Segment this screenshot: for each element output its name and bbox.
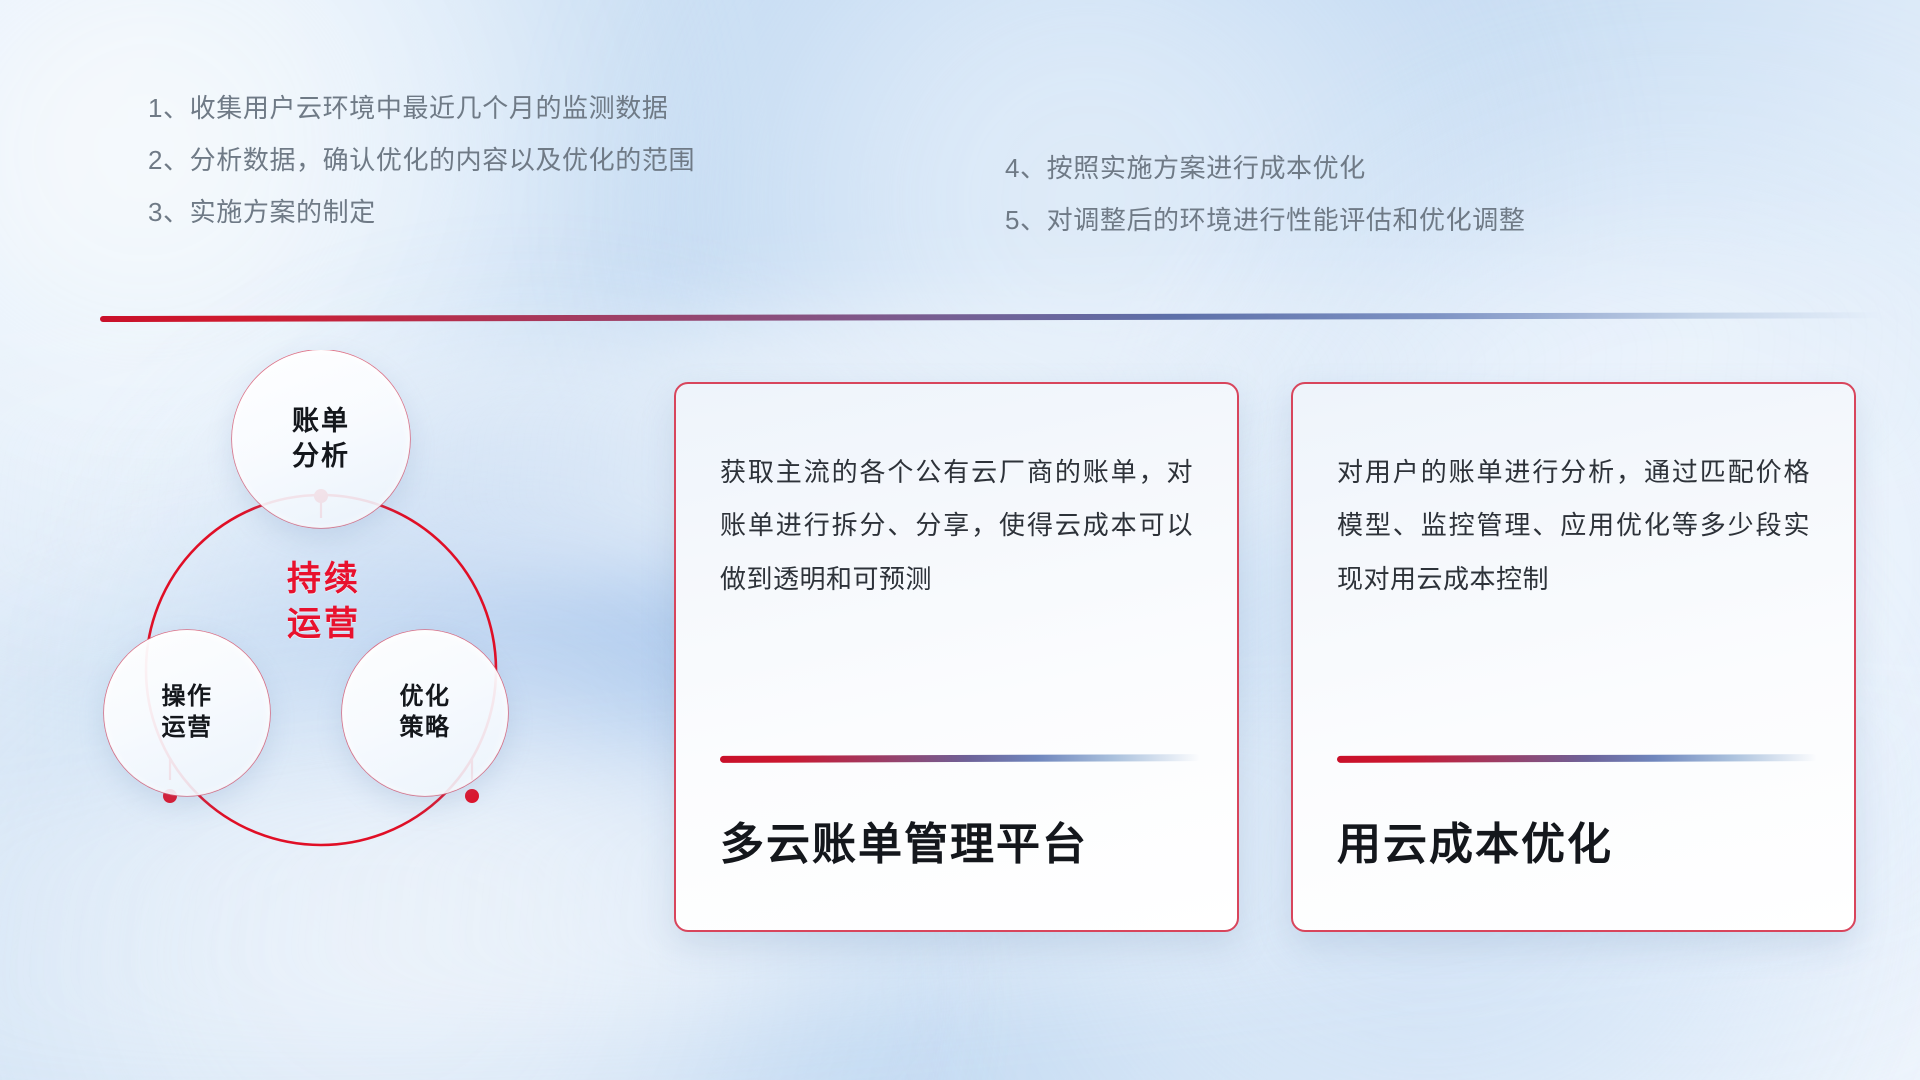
step-item: 2、分析数据，确认优化的内容以及优化的范围 xyxy=(148,147,695,173)
step-item: 5、对调整后的环境进行性能评估和优化调整 xyxy=(1005,207,1525,233)
venn-bubble-billing-analysis[interactable]: 账单 分析 xyxy=(232,350,410,528)
bubble-label-line2: 策略 xyxy=(400,713,451,744)
step-item: 3、实施方案的制定 xyxy=(148,199,695,225)
bubble-label-line1: 优化 xyxy=(400,682,451,713)
bubble-label-line1: 账单 xyxy=(292,404,350,439)
venn-center-label: 持续 运营 xyxy=(224,557,424,647)
venn-diagram: 账单 分析 操作 运营 优化 策略 持续 运营 xyxy=(90,350,650,950)
card-multicloud-billing-platform[interactable]: 获取主流的各个公有云厂商的账单，对账单进行拆分、分享，使得云成本可以做到透明和可… xyxy=(674,382,1239,932)
process-steps: 1、收集用户云环境中最近几个月的监测数据 2、分析数据，确认优化的内容以及优化的… xyxy=(0,0,1920,300)
steps-right-column: 4、按照实施方案进行成本优化 5、对调整后的环境进行性能评估和优化调整 xyxy=(1005,155,1525,259)
card-description: 获取主流的各个公有云厂商的账单，对账单进行拆分、分享，使得云成本可以做到透明和可… xyxy=(720,446,1193,606)
step-item: 1、收集用户云环境中最近几个月的监测数据 xyxy=(148,95,695,121)
card-divider xyxy=(720,754,1200,763)
card-title: 多云账单管理平台 xyxy=(720,817,1200,872)
venn-bubble-operations[interactable]: 操作 运营 xyxy=(104,630,270,796)
center-label-line1: 持续 xyxy=(224,557,424,602)
card-title: 用云成本优化 xyxy=(1337,817,1817,872)
card-description: 对用户的账单进行分析，通过匹配价格模型、监控管理、应用优化等多少段实现对用云成本… xyxy=(1337,446,1810,606)
center-label-line2: 运营 xyxy=(224,602,424,647)
bubble-label-line1: 操作 xyxy=(162,682,213,713)
bubble-label-line2: 分析 xyxy=(292,439,350,474)
venn-bubble-optimization-strategy[interactable]: 优化 策略 xyxy=(342,630,508,796)
bubble-label-line2: 运营 xyxy=(162,713,213,744)
card-cloud-cost-optimization[interactable]: 对用户的账单进行分析，通过匹配价格模型、监控管理、应用优化等多少段实现对用云成本… xyxy=(1291,382,1856,932)
card-divider xyxy=(1337,754,1817,763)
step-item: 4、按照实施方案进行成本优化 xyxy=(1005,155,1525,181)
node-dot-right xyxy=(465,789,479,803)
steps-left-column: 1、收集用户云环境中最近几个月的监测数据 2、分析数据，确认优化的内容以及优化的… xyxy=(148,95,695,251)
